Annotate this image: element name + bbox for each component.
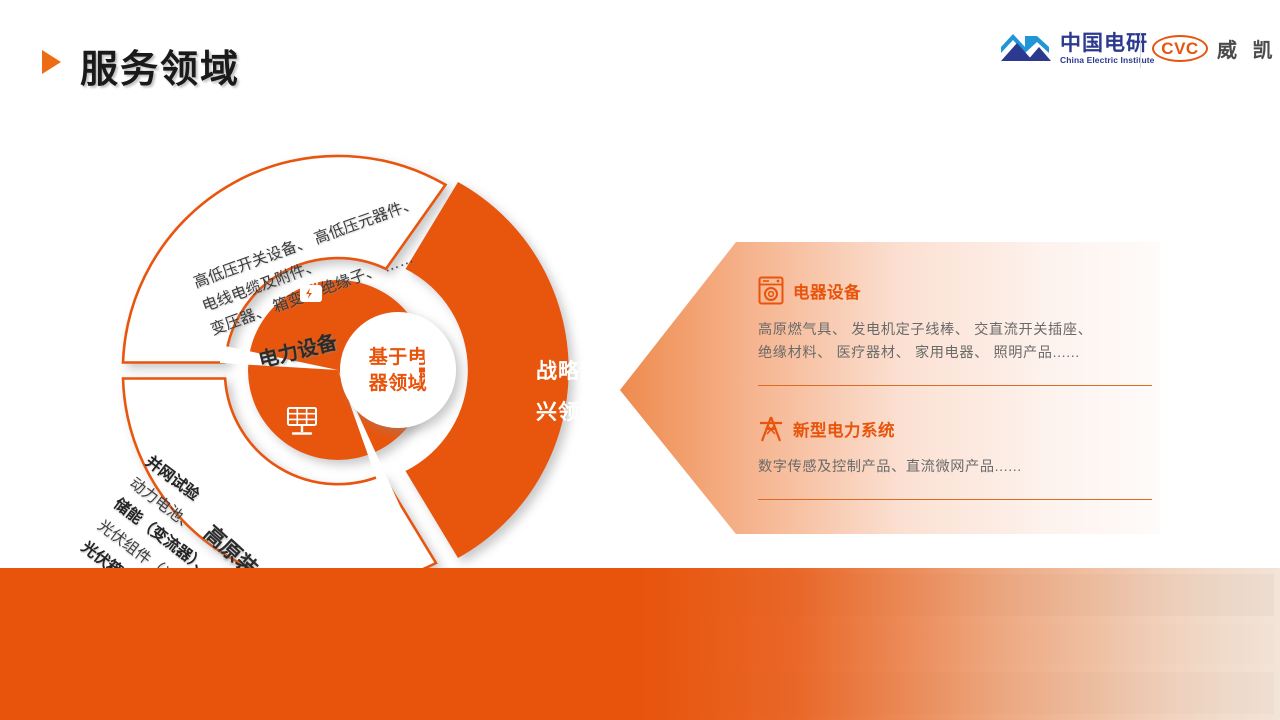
mountain-mark-icon xyxy=(997,31,1053,67)
logo-cvc-chinese: 威 凯 xyxy=(1217,34,1278,63)
footer-photo-band xyxy=(0,568,1280,720)
slide-header: 服务领域 中国电研 China Electric Institute CVC 威… xyxy=(0,0,1280,110)
logo-china-electric-institute: 中国电研 China Electric Institute xyxy=(997,31,1155,67)
logo-divider xyxy=(1140,32,1141,68)
service-domain-donut-diagram: 高低压开关设备、 高低压元器件、 电线电缆及附件、 变压器、 箱变、 绝缘子、 … xyxy=(60,120,680,620)
callout-category-power-system[interactable]: 新型电力系统 数字传感及控制产品、直流微网产品...... xyxy=(758,416,1148,500)
callout-desc-line-1: 高原燃气具、 发电机定子线棒、 交直流开关插座、 xyxy=(758,319,1148,342)
washing-machine-icon xyxy=(758,276,784,305)
callout-content: 电器设备 高原燃气具、 发电机定子线棒、 交直流开关插座、 绝缘材料、 医疗器材… xyxy=(736,238,1160,538)
callout-category-title: 电器设备 xyxy=(793,279,861,303)
transformer-icon xyxy=(290,275,328,307)
callout-divider-2 xyxy=(758,499,1152,500)
callout-desc-line-2: 绝缘材料、 医疗器材、 家用电器、 照明产品...... xyxy=(758,342,1148,365)
solar-panel-icon xyxy=(282,405,322,439)
callout-category-desc: 高原燃气具、 发电机定子线棒、 交直流开关插座、 绝缘材料、 医疗器材、 家用电… xyxy=(758,319,1148,365)
power-pylon-icon xyxy=(758,416,784,442)
callout-desc-line-1: 数字传感及控制产品、直流微网产品...... xyxy=(758,456,1148,479)
logo-cvc: CVC 威 凯 xyxy=(1152,34,1278,63)
bidirectional-arrow-icon xyxy=(405,352,439,388)
logo-cvc-badge: CVC xyxy=(1152,35,1208,62)
callout-panel: 电器设备 高原燃气具、 发电机定子线棒、 交直流开关插座、 绝缘材料、 医疗器材… xyxy=(610,238,1160,538)
triangle-right-icon xyxy=(42,50,61,74)
callout-category-desc: 数字传感及控制产品、直流微网产品...... xyxy=(758,456,1148,479)
callout-category-appliance[interactable]: 电器设备 高原燃气具、 发电机定子线棒、 交直流开关插座、 绝缘材料、 医疗器材… xyxy=(758,276,1148,386)
page-title: 服务领域 xyxy=(80,38,240,93)
band-orange-tint xyxy=(0,568,1280,720)
callout-divider-1 xyxy=(758,385,1152,386)
callout-category-title: 新型电力系统 xyxy=(793,417,895,441)
